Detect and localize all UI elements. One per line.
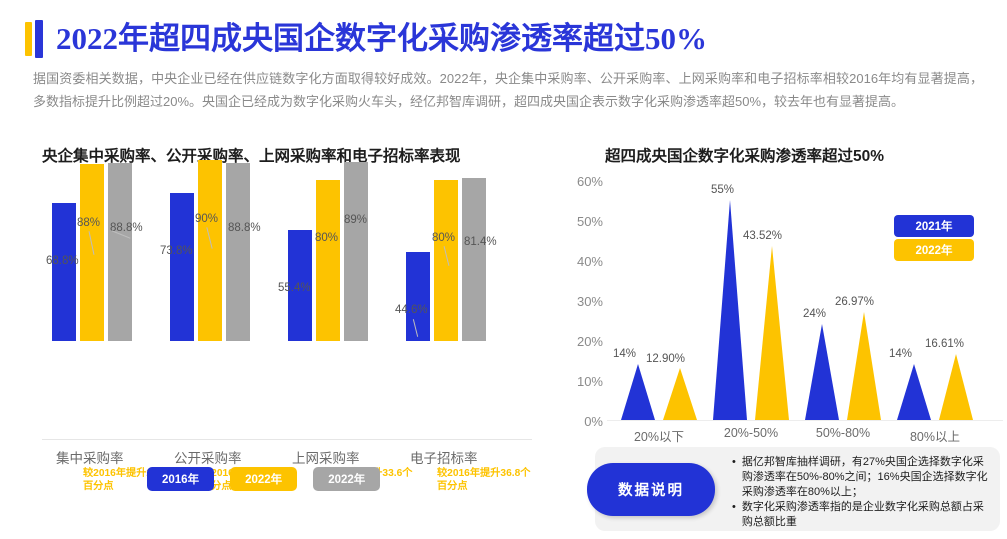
cone-bar-2022-3[interactable]: [847, 312, 881, 420]
cone-bar-2022-4[interactable]: [939, 354, 973, 420]
bar-value-label: 44.6%: [395, 304, 428, 316]
cone-bar-2021-2[interactable]: [713, 200, 747, 420]
table-row[interactable]: [462, 178, 486, 341]
bar-group-label: 上网采购率: [292, 447, 360, 467]
cone-bar-2021-1[interactable]: [621, 364, 655, 420]
table-row[interactable]: [52, 203, 76, 341]
bar-value-label: 88.8%: [228, 222, 261, 234]
table-row[interactable]: [406, 252, 430, 341]
table-row[interactable]: [170, 193, 194, 341]
bar-value-label: 81.4%: [464, 236, 497, 248]
table-row[interactable]: [344, 162, 368, 341]
infographic-page: 2022年超四成央国企数字化采购渗透率超过50% 据国资委相关数据，中央企业已经…: [0, 0, 1007, 539]
legend-chip-2022-gray[interactable]: 2022年: [313, 467, 380, 491]
y-axis-tick: 30%: [563, 294, 603, 309]
cone-value-label: 26.97%: [835, 296, 874, 308]
cone-category-label: 80%以上: [890, 426, 980, 445]
bar-chart-axis: [42, 439, 532, 440]
page-title: 2022年超四成央国企数字化采购渗透率超过50%: [56, 22, 707, 56]
accent-bar-blue-icon: [35, 20, 43, 58]
cone-chart-baseline: [607, 420, 1003, 421]
bar-value-label: 73.8%: [160, 245, 193, 257]
legend-chip-2022[interactable]: 2022年: [894, 239, 974, 261]
legend-chip-2021[interactable]: 2021年: [894, 215, 974, 237]
y-axis-tick: 10%: [563, 374, 603, 389]
table-row[interactable]: [80, 164, 104, 341]
legend-chip-2016[interactable]: 2016年: [147, 467, 214, 491]
note-list: • 据亿邦智库抽样调研，有27%央国企选择数字化采购渗透率在50%-80%之间；…: [732, 455, 990, 530]
cone-category-label: 50%-80%: [798, 426, 888, 440]
right-chart-legend: 2021年 2022年: [894, 215, 974, 261]
cone-value-label: 43.52%: [743, 230, 782, 242]
note-pill-label: 数据说明: [587, 463, 715, 516]
title-row: 2022年超四成央国企数字化采购渗透率超过50%: [25, 18, 707, 60]
cone-bar-2021-4[interactable]: [897, 364, 931, 420]
y-axis-tick: 40%: [563, 254, 603, 269]
bar-value-label: 80%: [315, 232, 338, 244]
right-chart-panel: 超四成央国企数字化采购渗透率超过50% 60% 50% 40% 30% 20% …: [545, 136, 1007, 539]
bar-value-label: 90%: [195, 213, 218, 225]
list-item: • 据亿邦智库抽样调研，有27%央国企选择数字化采购渗透率在50%-80%之间；…: [732, 455, 990, 500]
accent-bar-yellow-icon: [25, 22, 32, 56]
cone-value-label: 55%: [711, 184, 734, 196]
table-row[interactable]: [434, 180, 458, 341]
cone-bar-chart: 60% 50% 40% 30% 20% 10% 0% 14% 12.90% 55…: [563, 172, 1007, 462]
table-row[interactable]: [316, 180, 340, 341]
table-row[interactable]: [198, 160, 222, 341]
left-chart-legend: 2016年 2022年 2022年: [147, 467, 380, 491]
list-item: • 数字化采购渗透率指的是企业数字化采购总额占采购总额比重: [732, 500, 990, 530]
bar-value-label: 88%: [77, 217, 100, 229]
bar-group-label: 电子招标率: [410, 447, 478, 467]
right-chart-title: 超四成央国企数字化采购渗透率超过50%: [605, 144, 884, 166]
bar-value-label: 55.4%: [278, 282, 311, 294]
y-axis-tick: 0%: [563, 414, 603, 429]
bar-value-label: 80%: [432, 232, 455, 244]
y-axis-tick: 20%: [563, 334, 603, 349]
bar-group-note: 较2016年提升36.8个百分点: [437, 467, 532, 493]
cone-category-label: 20%以下: [614, 426, 704, 445]
legend-chip-2022-yellow[interactable]: 2022年: [230, 467, 297, 491]
bar-value-label: 89%: [344, 214, 367, 226]
bar-group-label: 集中采购率: [56, 447, 124, 467]
bar-value-label: 68.8%: [46, 255, 79, 267]
cone-value-label: 16.61%: [925, 338, 964, 350]
y-axis-tick: 50%: [563, 214, 603, 229]
cone-bar-2021-3[interactable]: [805, 324, 839, 420]
y-axis-tick: 60%: [563, 174, 603, 189]
cone-bar-2022-2[interactable]: [755, 246, 789, 420]
left-chart-panel: 央企集中采购率、公开采购率、上网采购率和电子招标率表现 68.8% 88% 88…: [0, 136, 545, 539]
note-item-text: 数字化采购渗透率指的是企业数字化采购总额占采购总额比重: [742, 500, 990, 530]
cone-bar-2022-1[interactable]: [663, 368, 697, 420]
bullet-icon: •: [732, 455, 736, 500]
bullet-icon: •: [732, 500, 736, 530]
cone-value-label: 12.90%: [646, 353, 685, 365]
cone-category-label: 20%-50%: [706, 426, 796, 440]
cone-value-label: 14%: [889, 348, 912, 360]
note-item-text: 据亿邦智库抽样调研，有27%央国企选择数字化采购渗透率在50%-80%之间；16…: [742, 455, 990, 500]
table-row[interactable]: [226, 163, 250, 341]
bar-group-label: 公开采购率: [174, 447, 242, 467]
cone-value-label: 24%: [803, 308, 826, 320]
table-row[interactable]: [108, 163, 132, 341]
note-box: 数据说明 • 据亿邦智库抽样调研，有27%央国企选择数字化采购渗透率在50%-8…: [595, 447, 1000, 531]
cone-value-label: 14%: [613, 348, 636, 360]
